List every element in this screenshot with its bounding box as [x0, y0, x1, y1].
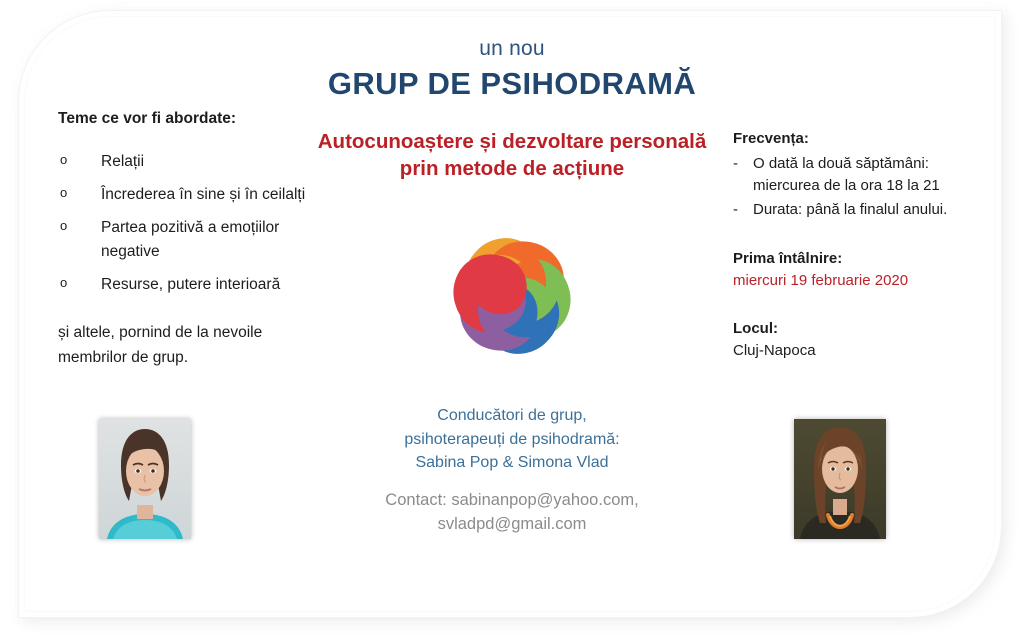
- list-item: - O dată la două săptămâni: miercurea de…: [733, 153, 985, 199]
- list-item: o Partea pozitivă a emoțiilor negative: [58, 216, 320, 264]
- circle-of-people-logo: [412, 196, 612, 392]
- leaders-line-2: psihoterapeuți de psihodramă:: [332, 428, 692, 452]
- list-item: o Relații: [58, 150, 320, 174]
- details-column: Frecvența: - O dată la două săptămâni: m…: [733, 128, 985, 363]
- first-meeting-label: Prima întâlnire:: [733, 248, 985, 271]
- contact-line-1[interactable]: Contact: sabinanpop@yahoo.com,: [312, 489, 712, 513]
- subtitle-line-1: Autocunoaștere și dezvoltare personală: [282, 128, 742, 155]
- contact-line-2[interactable]: svladpd@gmail.com: [312, 513, 712, 537]
- list-item-label: Partea pozitivă a emoțiilor negative: [101, 219, 279, 260]
- poster-subtitle: Autocunoaștere și dezvoltare personală p…: [282, 128, 742, 182]
- bullet-circle-icon: o: [60, 183, 67, 203]
- bullet-circle-icon: o: [60, 216, 67, 236]
- list-item: o Resurse, putere interioară: [58, 273, 320, 297]
- place-label: Locul:: [733, 318, 985, 341]
- subtitle-line-2: prin metode de acțiune: [282, 155, 742, 182]
- dash-bullet-icon: -: [733, 153, 738, 176]
- spacer: [733, 293, 985, 318]
- topics-heading: Teme ce vor fi abordate:: [58, 110, 320, 128]
- topics-column: Teme ce vor fi abordate: o Relații o Înc…: [58, 110, 320, 371]
- frequency-list: - O dată la două săptămâni: miercurea de…: [733, 153, 985, 222]
- bullet-circle-icon: o: [60, 273, 67, 293]
- list-item-label: O dată la două săptămâni: miercurea de l…: [753, 155, 940, 195]
- list-item-label: Resurse, putere interioară: [101, 276, 280, 293]
- list-item-label: Relații: [101, 153, 144, 170]
- group-leaders: Conducători de grup, psihoterapeuți de p…: [332, 404, 692, 475]
- portrait-simona-vlad: [794, 419, 886, 539]
- bullet-circle-icon: o: [60, 150, 67, 170]
- list-item: o Încrederea în sine și în ceilalți: [58, 183, 320, 207]
- first-meeting-date: miercuri 19 februarie 2020: [733, 270, 985, 293]
- list-item-label: Încrederea în sine și în ceilalți: [101, 186, 305, 203]
- contact-info: Contact: sabinanpop@yahoo.com, svladpd@g…: [312, 489, 712, 537]
- leaders-line-1: Conducători de grup,: [332, 404, 692, 428]
- list-item-label: Durata: până la finalul anului.: [753, 201, 947, 218]
- frequency-label: Frecvența:: [733, 128, 985, 151]
- dash-bullet-icon: -: [733, 199, 738, 222]
- poster-header: un nou GRUP DE PSIHODRAMĂ: [0, 36, 1024, 102]
- place-value: Cluj-Napoca: [733, 340, 985, 363]
- topics-list: o Relații o Încrederea în sine și în cei…: [58, 150, 320, 297]
- spacer: [733, 223, 985, 248]
- leaders-names: Sabina Pop & Simona Vlad: [332, 451, 692, 475]
- poster-root: un nou GRUP DE PSIHODRAMĂ Autocunoaștere…: [0, 0, 1024, 643]
- list-item: - Durata: până la finalul anului.: [733, 199, 985, 222]
- page-title: GRUP DE PSIHODRAMĂ: [0, 66, 1024, 102]
- header-kicker: un nou: [0, 36, 1024, 61]
- portrait-sabina-pop: [99, 419, 191, 539]
- topics-note: și altele, pornind de la nevoile membril…: [58, 321, 320, 371]
